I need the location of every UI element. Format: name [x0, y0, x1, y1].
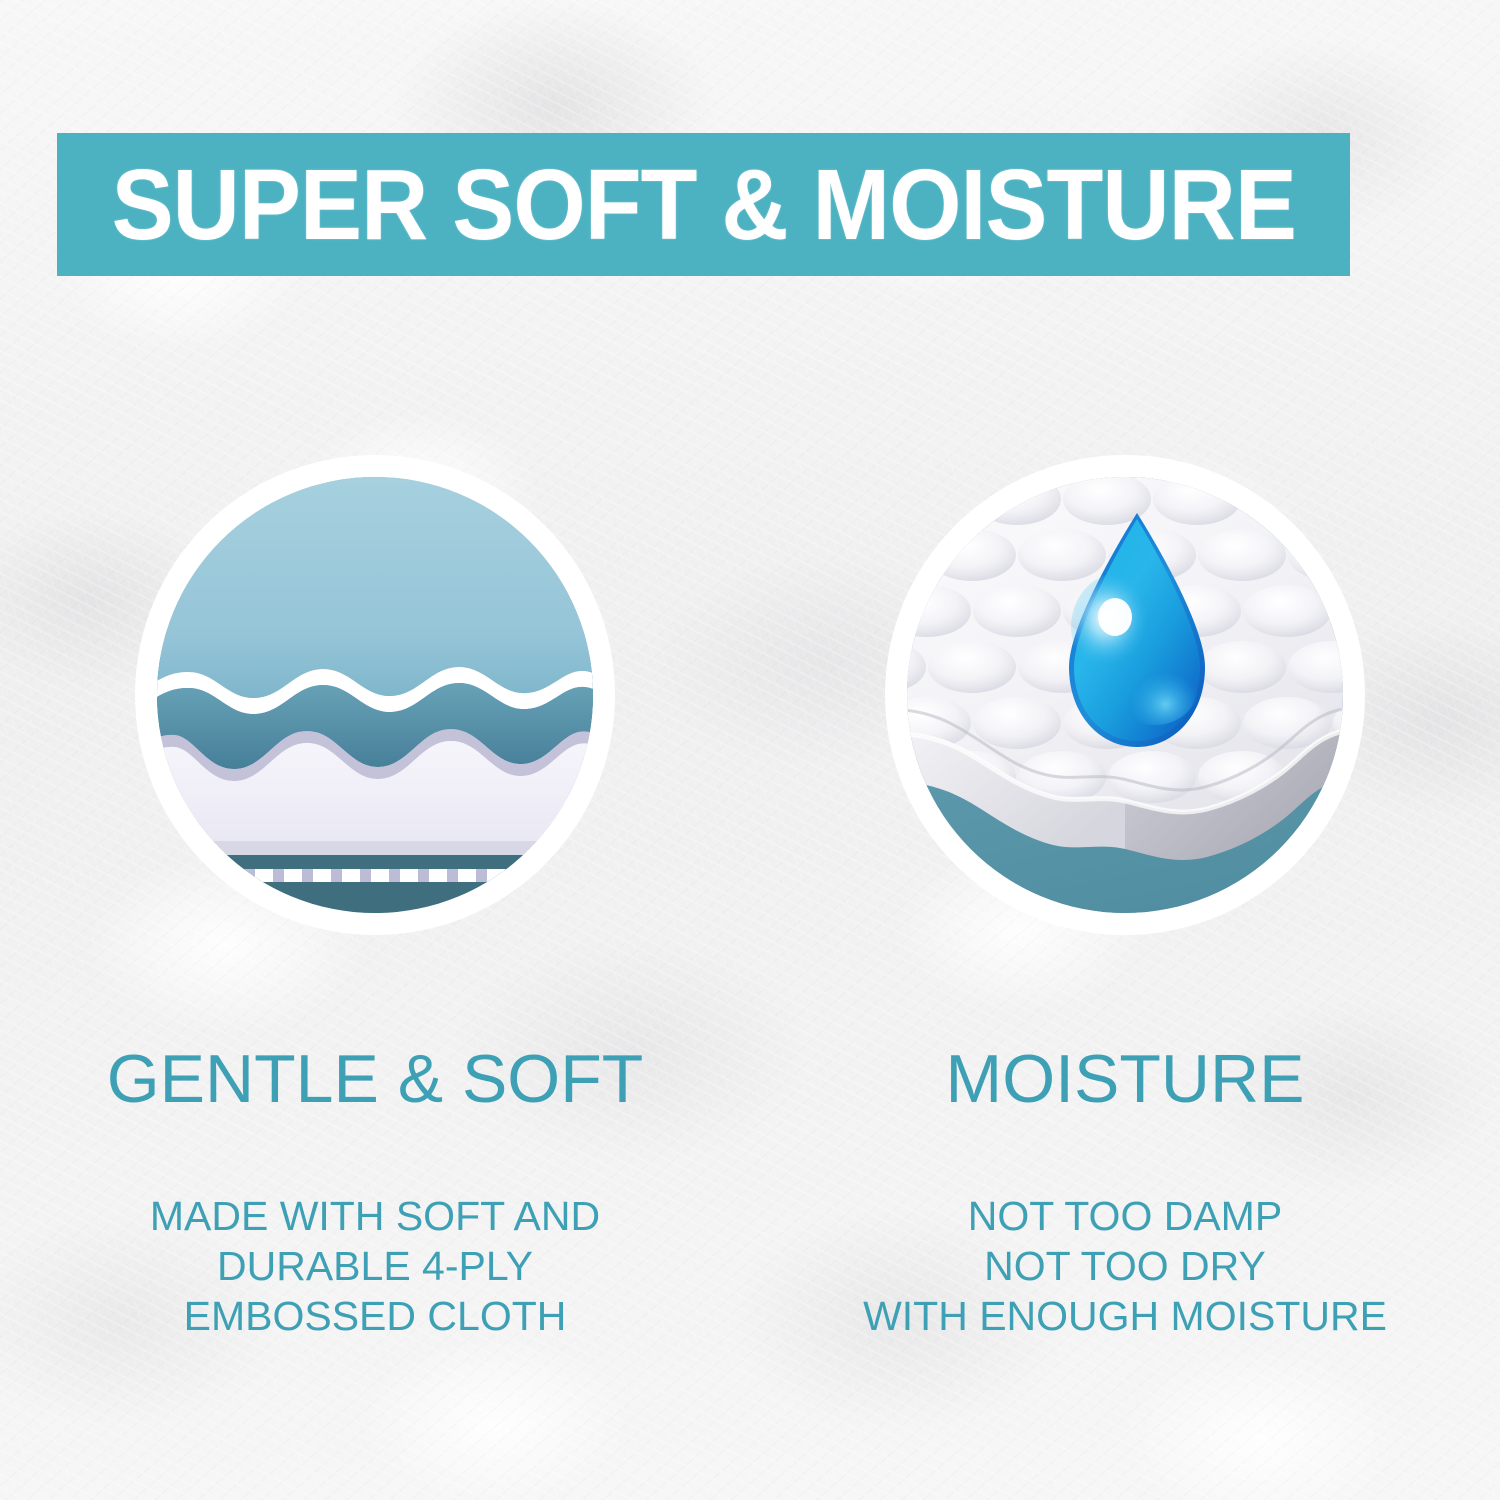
feature-heading-moisture: MOISTURE: [946, 1045, 1305, 1113]
cloth-layer-1-shape: [157, 477, 593, 698]
feature-body-line: NOT TOO DAMP: [863, 1191, 1387, 1241]
droplet-specular-highlight: [1098, 598, 1132, 636]
droplet-inner-glow: [1111, 645, 1199, 725]
header-banner: SUPER SOFT & MOISTURE: [57, 133, 1350, 276]
feature-card-gentle-and-soft: GENTLE & SOFT MADE WITH SOFT AND DURABLE…: [0, 455, 750, 1415]
feature-icon-badge-gentle-and-soft: [135, 455, 615, 935]
feature-heading-gentle-and-soft: GENTLE & SOFT: [107, 1045, 644, 1113]
feature-card-moisture: MOISTURE NOT TOO DAMP NOT TOO DRY WITH E…: [750, 455, 1500, 1415]
feature-body-line: NOT TOO DRY: [863, 1241, 1387, 1291]
feature-icon-badge-moisture: [885, 455, 1365, 935]
feature-body-moisture: NOT TOO DAMP NOT TOO DRY WITH ENOUGH MOI…: [863, 1191, 1387, 1341]
feature-columns: GENTLE & SOFT MADE WITH SOFT AND DURABLE…: [0, 455, 1500, 1415]
feature-body-line: DURABLE 4-PLY: [150, 1241, 600, 1291]
cloth-wave-layers-graphic: [157, 477, 593, 913]
layered-cloth-cross-section-icon: [157, 477, 593, 913]
water-droplet-on-quilted-cloth-icon: [907, 477, 1343, 913]
product-infographic-page: SUPER SOFT & MOISTURE: [0, 0, 1500, 1500]
feature-body-line: MADE WITH SOFT AND: [150, 1191, 600, 1241]
water-droplet-icon: [1057, 507, 1217, 757]
feature-body-line: WITH ENOUGH MOISTURE: [863, 1291, 1387, 1341]
feature-body-gentle-and-soft: MADE WITH SOFT AND DURABLE 4-PLY EMBOSSE…: [150, 1191, 600, 1341]
banner-title: SUPER SOFT & MOISTURE: [111, 155, 1295, 255]
feature-body-line: EMBOSSED CLOTH: [150, 1291, 600, 1341]
